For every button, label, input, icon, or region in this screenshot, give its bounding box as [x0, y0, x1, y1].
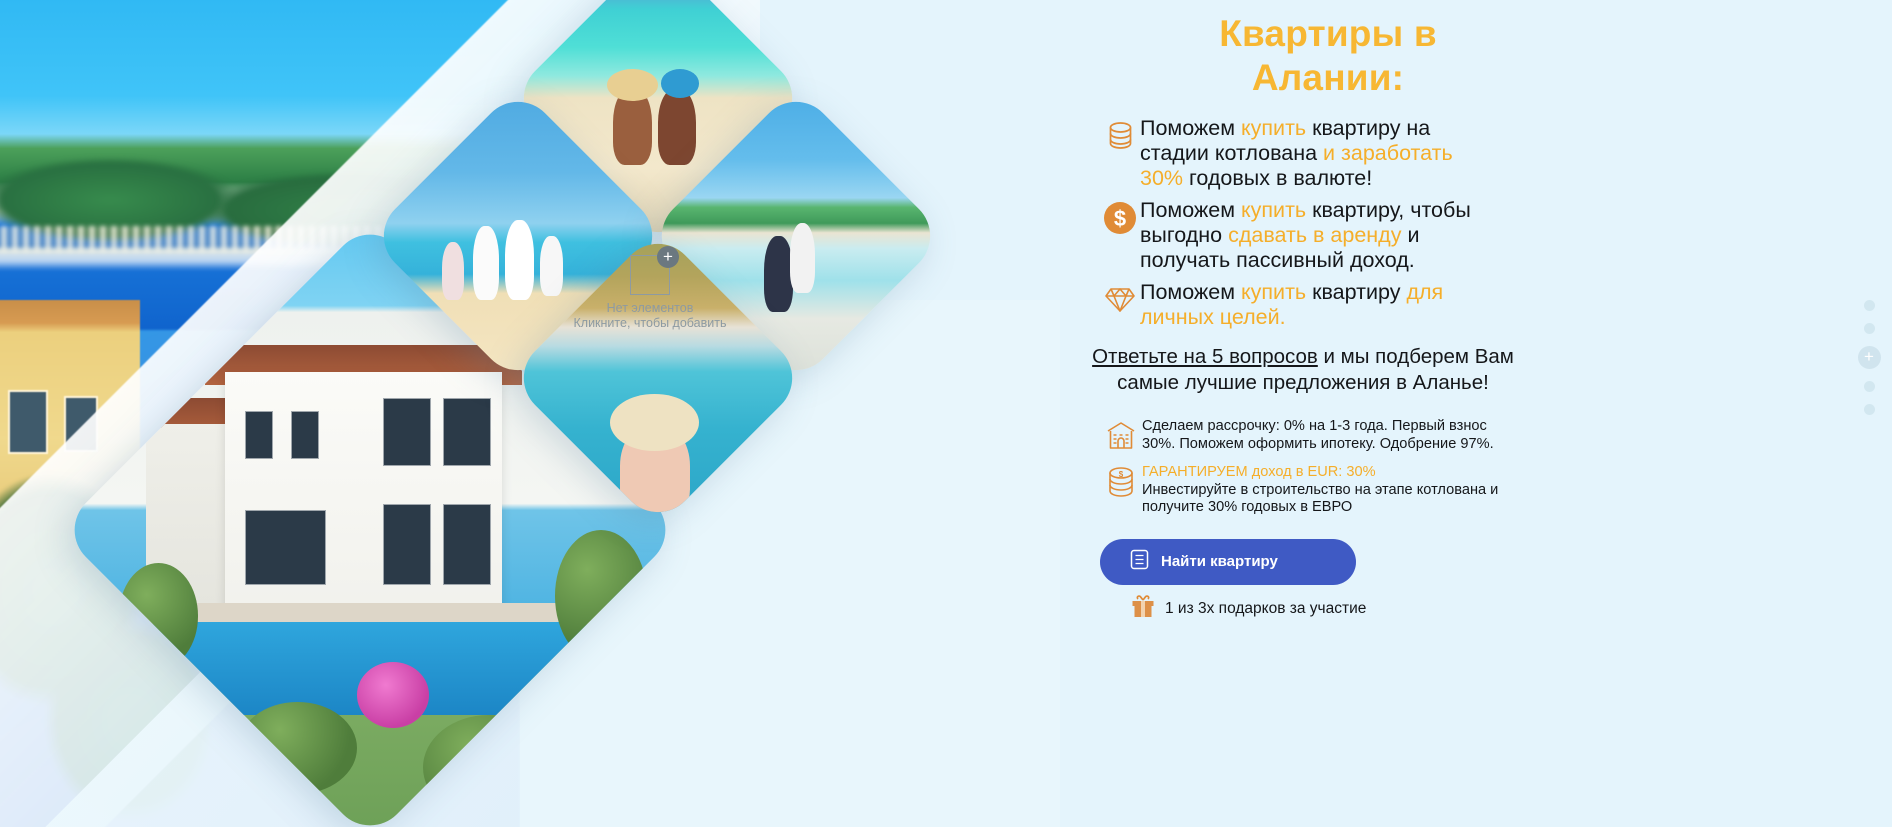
- gift-icon: [1130, 594, 1156, 625]
- feature-body: Инвестируйте в строительство на этапе ко…: [1142, 482, 1498, 516]
- gift-note: 1 из 3х подарков за участие: [1130, 594, 1520, 625]
- benefit-part: Поможем: [1140, 280, 1241, 304]
- feature-text: ГАРАНТИРУЕМ доход в EUR: 30% Инвестируйт…: [1142, 464, 1520, 517]
- benefit-part: Поможем: [1140, 198, 1241, 222]
- list-item: $ Поможем купить квартиру, чтобы выгодно…: [1100, 198, 1500, 273]
- plus-icon[interactable]: +: [657, 246, 679, 268]
- rail-dot[interactable]: [1864, 381, 1875, 392]
- page-title-line-2: Алании:: [1252, 57, 1404, 98]
- empty-placeholder-box[interactable]: +: [630, 255, 670, 295]
- benefit-text: Поможем купить квартиру для личных целей…: [1140, 280, 1500, 330]
- benefit-part-hl: купить: [1241, 280, 1306, 304]
- page-title-line-1: Квартиры в: [1219, 13, 1437, 54]
- photo-collage: + Нет элементов Кликните, чтобы добавить: [0, 0, 1060, 827]
- benefit-text: Поможем купить квартиру на стадии котлов…: [1140, 116, 1500, 191]
- feature-title: ГАРАНТИРУЕМ доход в EUR: 30%: [1142, 464, 1376, 480]
- benefit-part: годовых в валюте!: [1183, 166, 1372, 190]
- gift-label: 1 из 3х подарков за участие: [1165, 600, 1366, 618]
- benefit-part-hl: купить: [1241, 198, 1306, 222]
- dollar-circle-icon: $: [1100, 200, 1140, 236]
- side-rail: +: [1854, 300, 1884, 415]
- svg-text:$: $: [1114, 206, 1126, 231]
- benefit-part: квартиру: [1306, 280, 1406, 304]
- benefit-part-hl: купить: [1241, 116, 1306, 140]
- rail-add-icon[interactable]: +: [1858, 346, 1881, 369]
- landing-page: + Нет элементов Кликните, чтобы добавить…: [0, 0, 1892, 827]
- find-apartment-button[interactable]: Найти квартиру: [1100, 539, 1356, 585]
- rail-dot[interactable]: [1864, 323, 1875, 334]
- feature-text: Сделаем рассрочку: 0% на 1-3 года. Первы…: [1142, 418, 1520, 453]
- list-document-icon: [1130, 549, 1149, 574]
- benefit-part: Поможем: [1140, 116, 1241, 140]
- list-item: Поможем купить квартиру для личных целей…: [1100, 280, 1500, 330]
- list-item: Поможем купить квартиру на стадии котлов…: [1100, 116, 1500, 191]
- svg-text:$: $: [1119, 470, 1124, 479]
- list-item: Сделаем рассрочку: 0% на 1-3 года. Первы…: [1100, 418, 1520, 453]
- empty-placeholder-line2: Кликните, чтобы добавить: [560, 316, 740, 331]
- benefit-list: Поможем купить квартиру на стадии котлов…: [1100, 116, 1500, 330]
- empty-element-placeholder[interactable]: + Нет элементов Кликните, чтобы добавить: [560, 255, 740, 331]
- diamond-icon: [1100, 282, 1140, 318]
- answer-questions-link[interactable]: Ответьте на 5 вопросов: [1092, 345, 1318, 368]
- offer-content: Квартиры в Алании: Поможем купить кварти…: [1060, 0, 1850, 827]
- benefit-text: Поможем купить квартиру, чтобы выгодно с…: [1140, 198, 1500, 273]
- questionnaire-note: Ответьте на 5 вопросов и мы подберем Вам…: [1088, 344, 1518, 396]
- building-icon: [1100, 418, 1142, 452]
- coins-stack-icon: $: [1100, 464, 1142, 500]
- page-title: Квартиры в Алании:: [1118, 0, 1538, 100]
- coin-stack-outline-icon: [1100, 118, 1140, 154]
- find-apartment-label: Найти квартиру: [1161, 553, 1278, 570]
- rail-dot[interactable]: [1864, 404, 1875, 415]
- rail-dot[interactable]: [1864, 300, 1875, 311]
- secondary-feature-list: Сделаем рассрочку: 0% на 1-3 года. Первы…: [1100, 418, 1520, 517]
- empty-placeholder-line1: Нет элементов: [560, 301, 740, 316]
- benefit-part-hl: сдавать в аренду: [1228, 223, 1401, 247]
- cta-area: Найти квартиру 1 из 3х подарков за участ…: [1100, 539, 1520, 625]
- list-item: $ ГАРАНТИРУЕМ доход в EUR: 30% Инвестиру…: [1100, 464, 1520, 517]
